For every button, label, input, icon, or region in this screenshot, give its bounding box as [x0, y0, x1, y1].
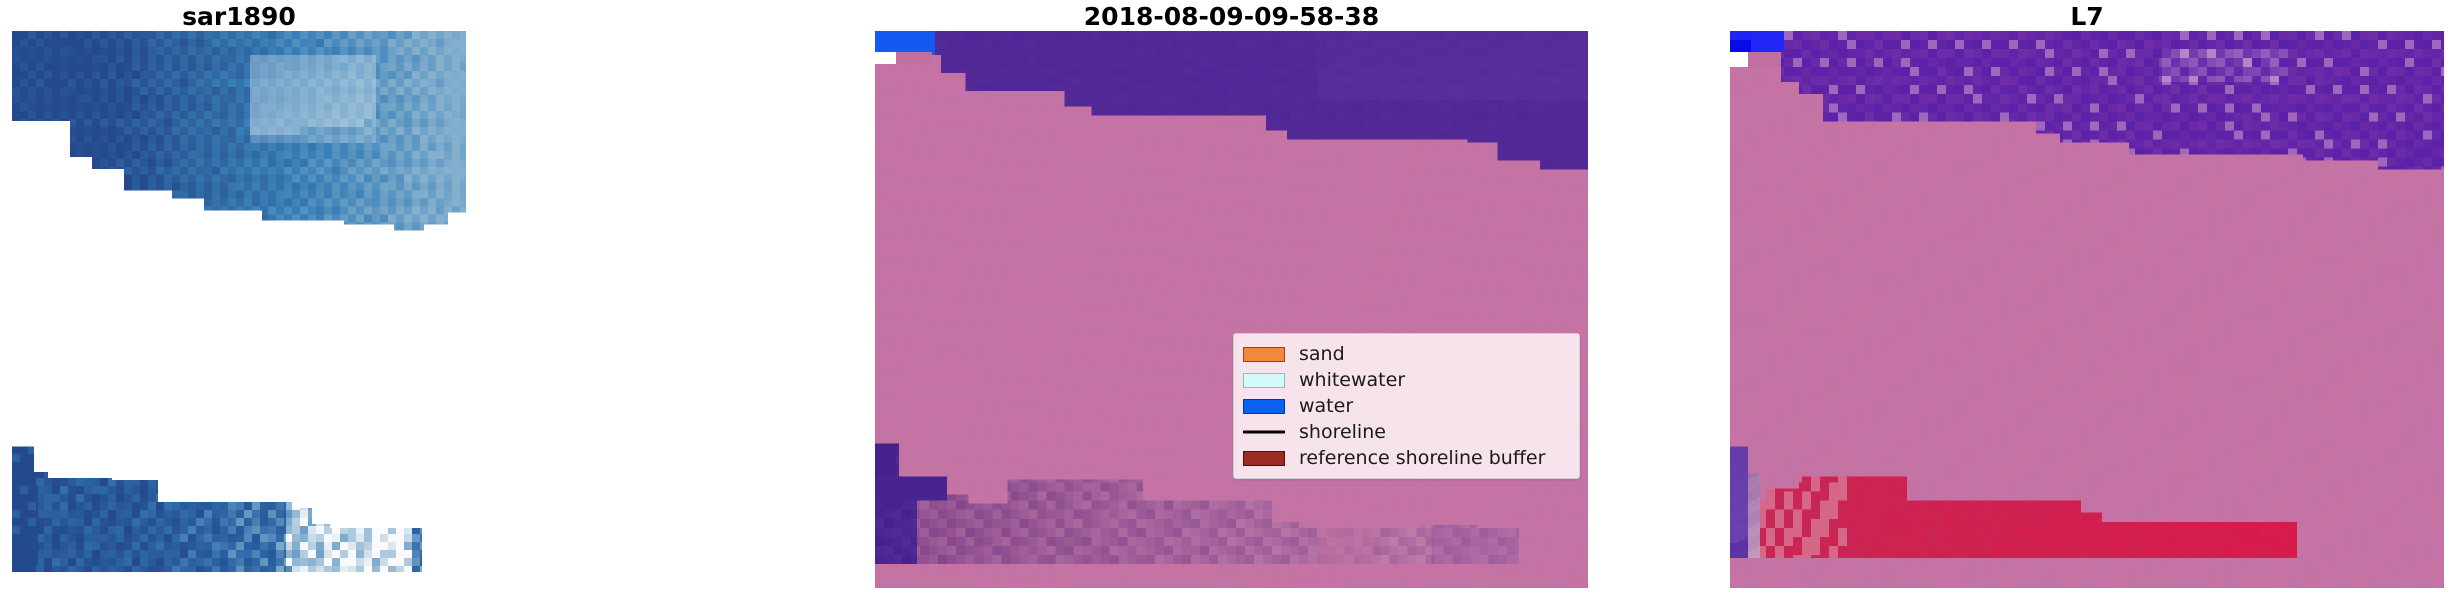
legend-item-sand[interactable]: sand [1243, 341, 1570, 367]
legend-item-water[interactable]: water [1243, 393, 1570, 419]
panel-sar1890[interactable] [12, 31, 466, 588]
legend-label-water: water [1299, 395, 1353, 417]
reference-buffer-swatch [1243, 451, 1285, 466]
whitewater-swatch [1243, 373, 1285, 388]
legend-label-sand: sand [1299, 343, 1345, 365]
panel-scene-2018-08-09[interactable] [875, 31, 1588, 588]
legend-label-whitewater: whitewater [1299, 369, 1405, 391]
figure-canvas: sar1890 2018-08-09-09-58-38 L7 sand whit… [0, 0, 2460, 608]
water-swatch [1243, 399, 1285, 414]
sand-swatch [1243, 347, 1285, 362]
scene-raster [875, 31, 1588, 588]
legend-item-reference-buffer[interactable]: reference shoreline buffer [1243, 445, 1570, 471]
panel-l7[interactable] [1730, 31, 2444, 588]
legend-item-shoreline[interactable]: shoreline [1243, 419, 1570, 445]
legend-label-shoreline: shoreline [1299, 421, 1386, 443]
panel-title-sar1890: sar1890 [12, 2, 466, 32]
shoreline-line-icon [1243, 425, 1285, 440]
panel-title-l7: L7 [1730, 2, 2444, 32]
panel-title-scene: 2018-08-09-09-58-38 [875, 2, 1588, 32]
legend-label-reference-buffer: reference shoreline buffer [1299, 447, 1545, 469]
l7-raster [1730, 31, 2444, 588]
map-legend[interactable]: sand whitewater water shoreline referenc… [1233, 333, 1580, 479]
sar1890-raster [12, 31, 466, 588]
legend-item-whitewater[interactable]: whitewater [1243, 367, 1570, 393]
